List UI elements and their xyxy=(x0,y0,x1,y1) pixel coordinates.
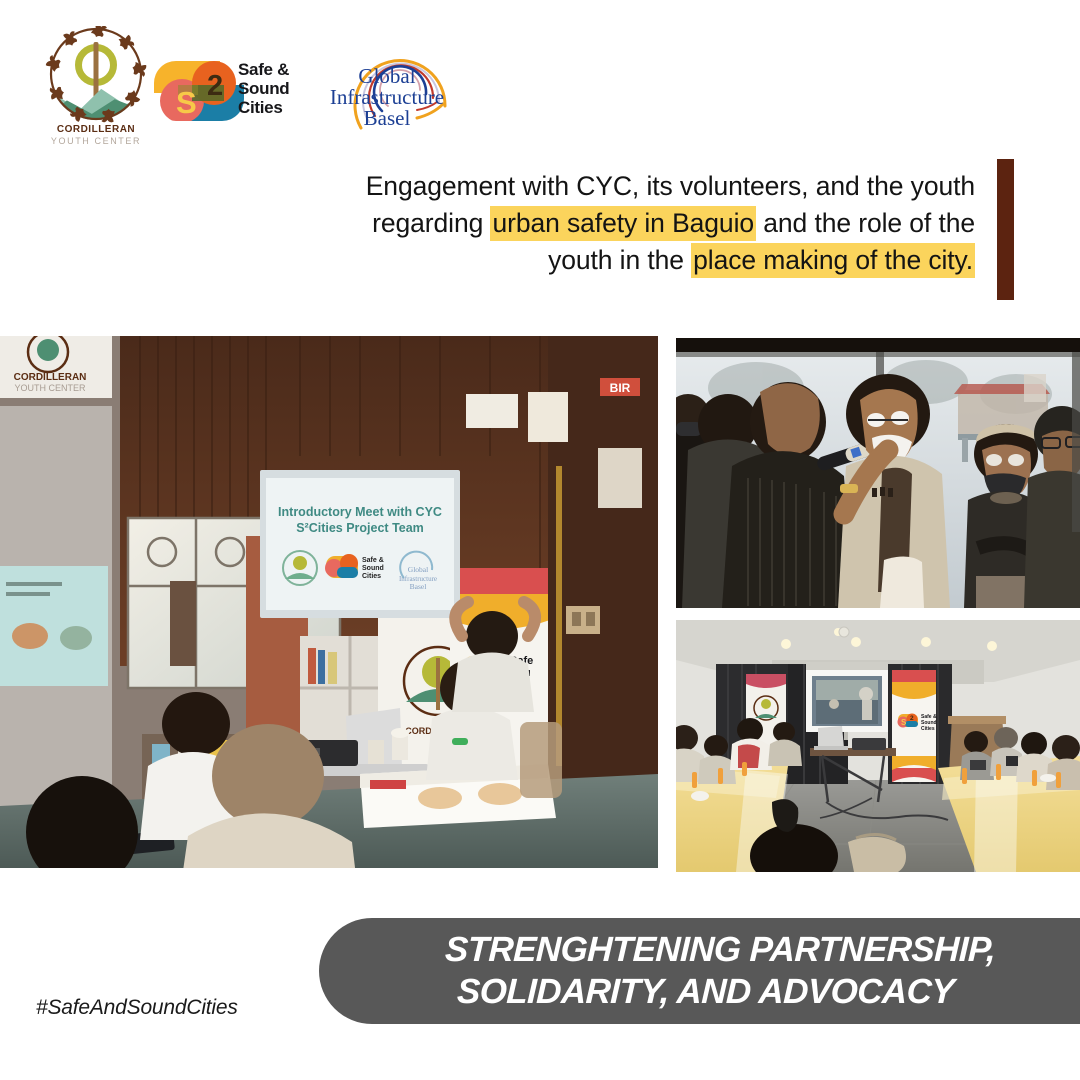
svg-text:CORDILLERAN: CORDILLERAN xyxy=(14,372,87,383)
headline-text: Engagement with CYC, its volunteers, and… xyxy=(300,168,975,279)
headline-line-1-text: Engagement with CYC, its volunteers, and… xyxy=(366,171,975,201)
gib-wordmark: Global Infrastructure Basel xyxy=(327,66,447,129)
headline-highlight-place-making: place making of the city. xyxy=(691,243,975,278)
svg-text:YOUTH CENTER: YOUTH CENTER xyxy=(14,383,86,393)
gib-wordmark-line1: Global xyxy=(327,66,447,87)
svg-text:Safe &: Safe & xyxy=(362,557,384,564)
svg-text:BIR: BIR xyxy=(610,381,631,395)
photo-conference-room-session: S 2 Safe & Sound Cities xyxy=(676,620,1080,872)
headline-line-3-prefix: youth in the xyxy=(548,245,691,275)
s2-wordmark-line2: Sound xyxy=(238,79,289,98)
svg-text:Global: Global xyxy=(408,565,428,574)
headline-highlight-urban-safety: urban safety in Baguio xyxy=(490,206,756,241)
headline-line-3: youth in the place making of the city. xyxy=(300,242,975,279)
headline-line-1: Engagement with CYC, its volunteers, and… xyxy=(300,168,975,205)
cyc-logo-wordmark-line1: CORDILLERAN xyxy=(36,124,156,135)
banner-line-1: STRENGHTENING PARTNERSHIP, xyxy=(403,929,997,971)
headline-line-2-prefix: regarding xyxy=(372,208,490,238)
cyc-logo-wordmark-line2: YOUTH CENTER xyxy=(36,136,156,146)
cordilleran-youth-center-logo: CORDILLERAN YOUTH CENTER xyxy=(36,26,156,148)
s2-wordmark-line3: Cities xyxy=(238,98,289,117)
svg-text:Basel: Basel xyxy=(410,582,427,591)
svg-text:2: 2 xyxy=(207,70,223,102)
svg-text:2: 2 xyxy=(910,715,914,722)
svg-text:S: S xyxy=(176,85,197,120)
hashtag-label: #SafeAndSoundCities xyxy=(36,996,238,1020)
logo-bar: CORDILLERAN YOUTH CENTER S 2 xyxy=(0,0,1080,160)
banner-line-2: SOLIDARITY, AND ADVOCACY xyxy=(444,971,954,1013)
cyc-lizard-ring-icon xyxy=(36,26,156,124)
photo-cyc-introductory-meeting: CORDILLERAN YOUTH CENTER xyxy=(0,336,658,868)
s2-cities-mark-icon: S 2 xyxy=(152,57,250,125)
svg-text:Introductory Meet with CYC: Introductory Meet with CYC xyxy=(278,505,442,519)
photo-microphone-discussion xyxy=(676,338,1080,608)
svg-text:Cities: Cities xyxy=(362,573,381,580)
svg-text:S²Cities Project Team: S²Cities Project Team xyxy=(296,521,424,535)
safe-and-sound-cities-logo: S 2 Safe & Sound Cities xyxy=(152,57,304,125)
global-infrastructure-basel-logo: Global Infrastructure Basel xyxy=(325,32,465,136)
accent-vertical-bar xyxy=(997,159,1014,300)
svg-text:Sound: Sound xyxy=(362,565,384,572)
svg-text:S: S xyxy=(901,718,907,727)
poster-canvas: CORDILLERAN YOUTH CENTER S 2 xyxy=(0,0,1080,1080)
svg-text:Cities: Cities xyxy=(921,726,935,732)
bottom-title-banner: STRENGHTENING PARTNERSHIP, SOLIDARITY, A… xyxy=(319,918,1080,1024)
gib-wordmark-line2: Infrastructure xyxy=(327,87,447,108)
headline-line-2-suffix: and the role of the xyxy=(756,208,975,238)
gib-wordmark-line3: Basel xyxy=(327,108,447,129)
s2-cities-wordmark: Safe & Sound Cities xyxy=(238,60,289,117)
s2-wordmark-line1: Safe & xyxy=(238,60,289,79)
headline-line-2: regarding urban safety in Baguio and the… xyxy=(300,205,975,242)
